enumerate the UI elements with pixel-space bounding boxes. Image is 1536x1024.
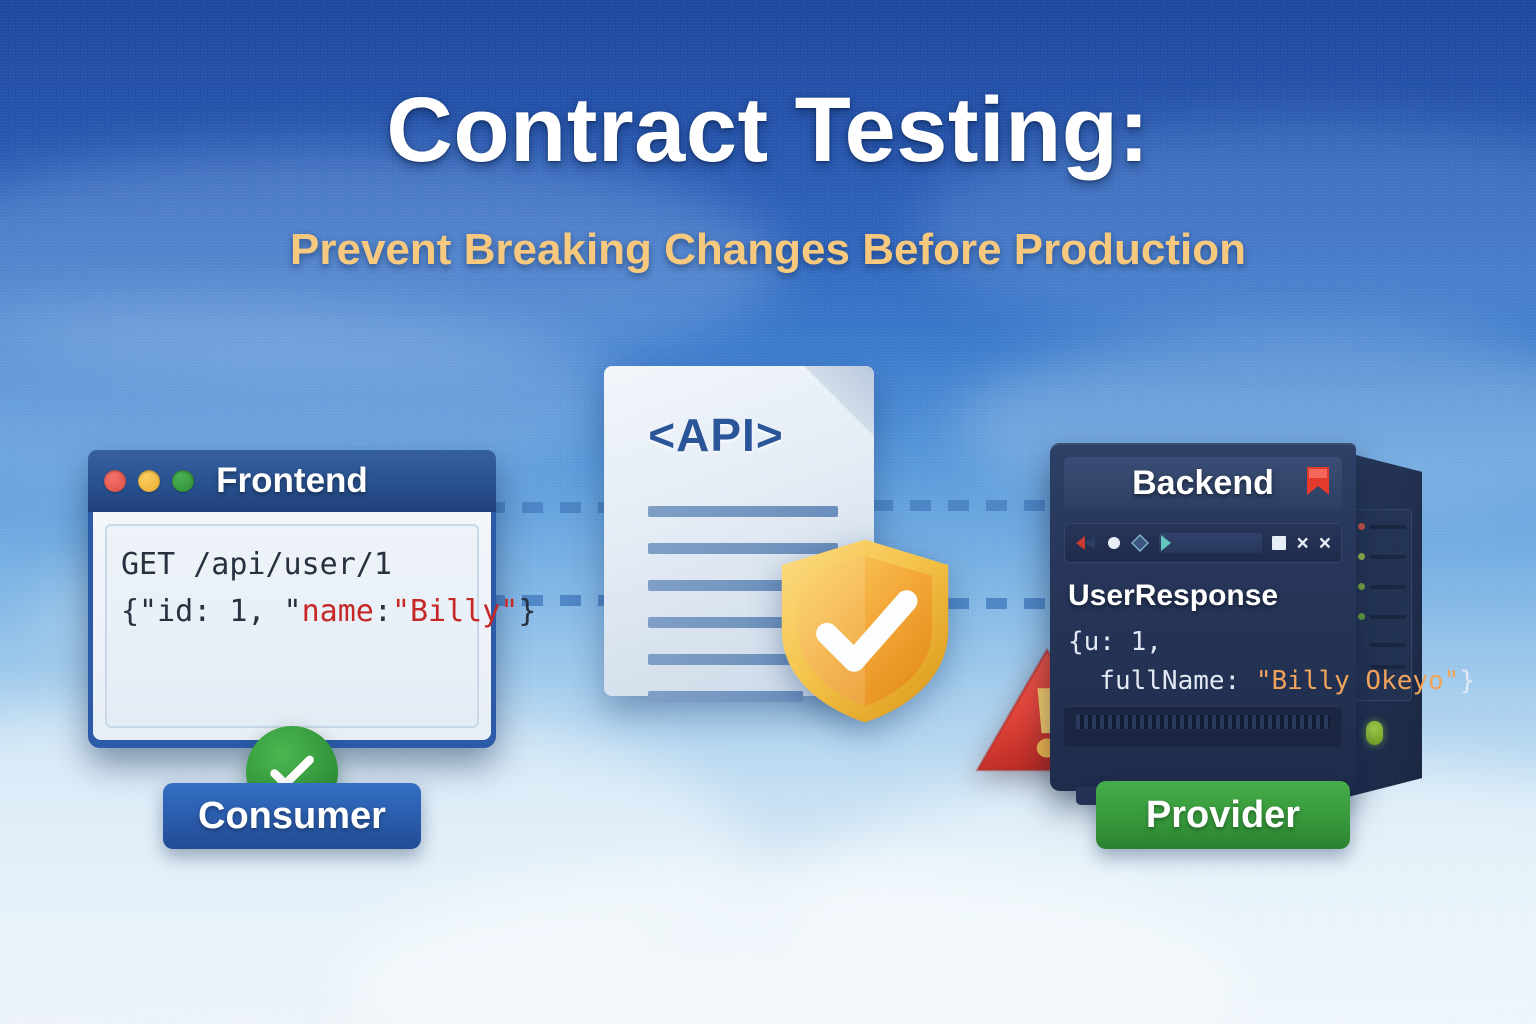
backend-window[interactable]: Backend <box>1050 443 1356 791</box>
frontend-titlebar: Frontend <box>88 450 496 512</box>
backend-class-name: UserResponse <box>1068 579 1338 613</box>
close-x-icon[interactable]: × <box>1319 533 1331 554</box>
frontend-code-line-1: GET /api/user/1 <box>121 542 463 589</box>
frontend-window-body: GET /api/user/1 {"id: 1, "name:"Billy"} <box>93 512 491 740</box>
vent-slot <box>1370 525 1406 529</box>
json-suffix: } <box>518 594 536 629</box>
status-led-icon <box>1358 523 1365 530</box>
page-title: Contract Testing: <box>0 78 1536 183</box>
json-suffix: } <box>1459 666 1475 696</box>
backend-code-line-2: fullName: "Billy Okeyo"} <box>1068 662 1338 701</box>
frontend-window[interactable]: Frontend GET /api/user/1 {"id: 1, "name:… <box>88 450 496 748</box>
close-traffic-light-icon[interactable] <box>104 470 126 492</box>
power-led-icon <box>1366 721 1383 745</box>
vent-slot <box>1370 585 1406 589</box>
diamond-icon[interactable] <box>1131 534 1149 552</box>
status-led-icon <box>1358 613 1365 620</box>
minimize-traffic-light-icon[interactable] <box>138 470 160 492</box>
white-dot-icon[interactable] <box>1107 536 1121 550</box>
white-square-icon[interactable] <box>1272 536 1286 550</box>
cloud-band <box>340 860 1240 1024</box>
api-document-label: <API> <box>604 408 828 462</box>
server-vent-grille <box>1064 705 1342 747</box>
json-value: "Billy" <box>392 594 518 629</box>
frontend-code-line-2: {"id: 1, "name:"Billy"} <box>121 589 463 636</box>
backend-toolbar[interactable]: × × <box>1064 523 1342 563</box>
json-prefix: fullName: <box>1068 666 1256 696</box>
vent-slots <box>1076 715 1330 729</box>
diagram-canvas: Contract Testing: Prevent Breaking Chang… <box>0 0 1536 1024</box>
backend-window-title: Backend <box>1132 464 1274 503</box>
backend-code-line-1: {u: 1, <box>1068 623 1338 662</box>
maximize-traffic-light-icon[interactable] <box>172 470 194 492</box>
vent-slot <box>1370 643 1406 647</box>
red-arrow-icon[interactable] <box>1075 534 1097 552</box>
doc-line <box>648 506 838 517</box>
status-led-icon <box>1358 583 1365 590</box>
page-subtitle: Prevent Breaking Changes Before Producti… <box>0 225 1536 275</box>
connector-frontend-contract-top <box>484 502 624 513</box>
json-key: name <box>302 594 374 629</box>
vent-slot <box>1370 615 1406 619</box>
backend-server[interactable]: Backend <box>1050 443 1422 815</box>
shield-check-icon <box>774 536 956 726</box>
backend-titlebar: Backend <box>1064 457 1342 509</box>
close-x-icon[interactable]: × <box>1296 533 1308 554</box>
json-colon: : <box>374 594 392 629</box>
status-led-icon <box>1358 553 1365 560</box>
json-value: "Billy Okeyo" <box>1256 666 1460 696</box>
server-foot <box>1358 795 1384 815</box>
provider-label-pill[interactable]: Provider <box>1096 781 1350 849</box>
json-prefix: {"id: 1, " <box>121 594 302 629</box>
backend-code-block: UserResponse {u: 1, fullName: "Billy Oke… <box>1064 579 1342 701</box>
consumer-label-pill[interactable]: Consumer <box>163 783 421 849</box>
connector-contract-backend-top <box>872 500 1068 511</box>
vent-slot <box>1370 555 1406 559</box>
frontend-code-block: GET /api/user/1 {"id: 1, "name:"Billy"} <box>105 524 479 728</box>
bookmark-icon[interactable] <box>1304 465 1332 497</box>
toolbar-progress-bar[interactable] <box>1159 533 1262 553</box>
